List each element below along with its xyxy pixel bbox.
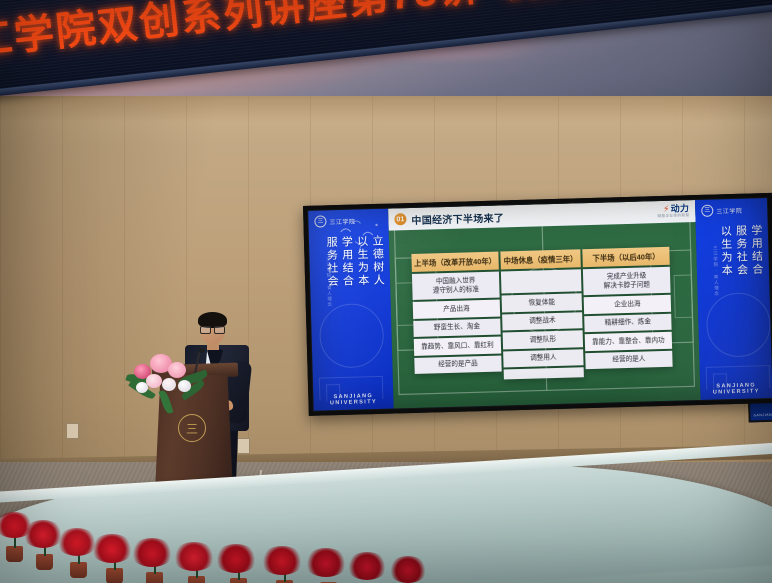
table-column-halftime: 中场休息（疫情三年） 恢复体能 调整战术 调整队形 调整用人 [500, 249, 584, 379]
wallpaper-footer-left: SANJIANG UNIVERSITY [313, 393, 393, 407]
table-cell: 经营的是人 [585, 350, 672, 369]
slogan-column: 学用结合 [749, 224, 763, 276]
slogan-column: 立德树人 [371, 235, 385, 287]
podium-emblem: 三 [178, 414, 206, 442]
wallpaper-slogan-right: 学用结合 服务社会 以生为本 [719, 224, 763, 277]
table-cell: 企业出海 [584, 295, 671, 314]
slide-content: 01 中国经济下半场来了 ⚡动力 赋能企业家的智慧 上半场（改革开放40年） 中… [388, 200, 700, 408]
table-cell: 靠能力、靠整合、靠内功 [585, 332, 672, 351]
slogan-column: 以生为本 [719, 225, 733, 277]
wallpaper-panel-right: 三 三江学院 三江学院 · 育人理念 学用结合 服务社会 以生为本 SANJIA… [695, 198, 772, 400]
table-cell: 恢复体能 [502, 293, 582, 312]
wallpaper-panel-left: 三 三江学院 三江学院 · 育人理念 立德树人 以生为本 学用结合 [308, 209, 394, 411]
slogan-column: 学用结合 [340, 236, 354, 288]
table-spacer [501, 269, 582, 293]
table-cell: 经营的是产品 [414, 355, 501, 374]
slide-title: 中国经济下半场来了 [411, 209, 504, 227]
speaker-glasses-icon [200, 326, 225, 332]
screen-display: 三 三江学院 三江学院 · 育人理念 立德树人 以生为本 学用结合 [308, 198, 772, 411]
university-logo-text: 三江学院 [716, 205, 742, 215]
table-cell: 中国融入世界 遵守别人的标准 [412, 272, 500, 301]
wall-outlet [66, 423, 79, 439]
brand-tagline: 赋能企业家的智慧 [657, 214, 689, 218]
table-header: 下半场（以后40年） [582, 247, 669, 267]
decorative-ring [319, 303, 385, 369]
wallpaper-slogan-left: 立德树人 以生为本 学用结合 服务社会 [325, 235, 385, 289]
section-number-badge: 01 [394, 213, 406, 225]
table-cell: 精耕细作、炼金 [584, 313, 671, 332]
table-column-second-half: 下半场（以后40年） 完成产业升级 解决卡脖子问题 企业出海 精耕细作、炼金 靠… [582, 247, 673, 378]
table-header: 上半场（改革开放40年） [411, 252, 498, 272]
slogan-column: 服务社会 [325, 236, 339, 288]
university-seal-icon: 三 [314, 215, 326, 227]
lecture-hall-photo: 工学院双创系列讲座第73讲《合伙创业》—主讲嘉宾：鄢铖 SANJIANG 三 三… [0, 0, 772, 583]
brand-spark-icon: ⚡ [663, 204, 670, 214]
table-cell: 野蛮生长、淘金 [413, 318, 500, 337]
flower-bouquet [126, 350, 212, 412]
presenter-brand-logo: ⚡动力 赋能企业家的智慧 [657, 204, 689, 218]
table-cell: 产品出海 [413, 300, 500, 319]
university-seal-icon: 三 [701, 205, 713, 217]
slide-table: 上半场（改革开放40年） 中国融入世界 遵守别人的标准 产品出海 野蛮生长、淘金… [411, 247, 672, 382]
poinsettia-row [0, 498, 772, 583]
wallpaper-footer-right: SANJIANG UNIVERSITY [700, 382, 772, 396]
table-cell: 完成产业升级 解决卡脖子问题 [583, 267, 671, 296]
table-cell: 调整队形 [503, 330, 583, 349]
table-cell: 靠趋势、靠风口、靠红利 [414, 337, 501, 356]
slogan-column: 以生为本 [355, 235, 369, 287]
decorative-ring [706, 292, 772, 358]
table-column-first-half: 上半场（改革开放40年） 中国融入世界 遵守别人的标准 产品出海 野蛮生长、淘金… [411, 252, 502, 383]
presentation-screen[interactable]: 三 三江学院 三江学院 · 育人理念 立德树人 以生为本 学用结合 [303, 193, 772, 416]
table-cell: 调整用人 [503, 349, 583, 368]
university-logo-right: 三 三江学院 [701, 204, 742, 217]
slogan-column: 服务社会 [734, 225, 748, 277]
side-monitor-caption: SANJIANG [750, 413, 772, 418]
table-header: 中场休息（疫情三年） [500, 249, 581, 269]
table-cell: 调整战术 [502, 312, 582, 331]
